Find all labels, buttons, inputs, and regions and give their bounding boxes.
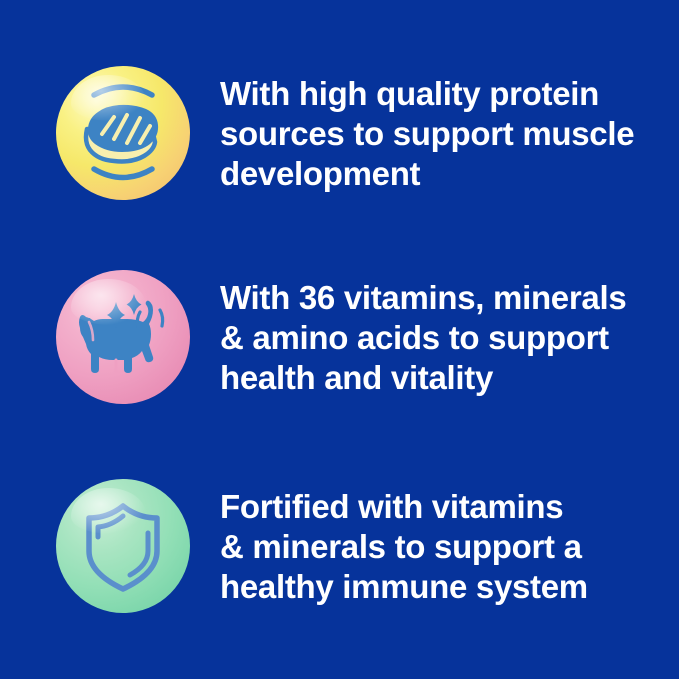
dog-sparkle-icon: [56, 270, 190, 404]
feature-text-nutrients: With 36 vitamins, minerals & amino acids…: [220, 270, 626, 398]
badge-circle-green: [56, 479, 190, 613]
feature-row-immune: Fortified with vitamins & minerals to su…: [0, 479, 679, 613]
badge-immune: [56, 479, 190, 613]
feature-row-protein: With high quality protein sources to sup…: [0, 66, 679, 200]
badge-circle-pink: [56, 270, 190, 404]
steak-icon: [56, 66, 190, 200]
product-benefits-panel: With high quality protein sources to sup…: [0, 0, 679, 679]
badge-nutrients: [56, 270, 190, 404]
feature-text-immune: Fortified with vitamins & minerals to su…: [220, 479, 588, 607]
feature-row-nutrients: With 36 vitamins, minerals & amino acids…: [0, 270, 679, 404]
badge-circle-yellow: [56, 66, 190, 200]
feature-text-protein: With high quality protein sources to sup…: [220, 66, 634, 194]
badge-protein: [56, 66, 190, 200]
shield-icon: [56, 479, 190, 613]
